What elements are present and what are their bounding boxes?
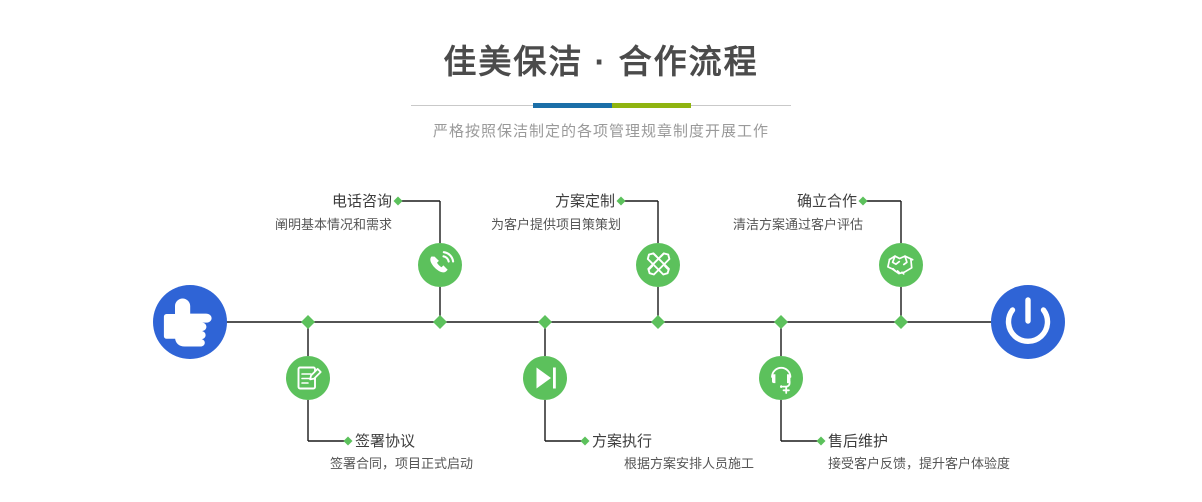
step-3-desc: 为客户提供项目策策划 [491, 218, 621, 231]
timeline-diagram: 电话咨询 阐明基本情况和需求 方案定制 为客户提供项目策策划 确立合作 清洁方案… [0, 0, 1202, 502]
step-node-2[interactable] [286, 356, 330, 400]
spine-marker-4 [651, 315, 665, 329]
step-2-desc: 签署合同，项目正式启动 [330, 457, 473, 470]
step-node-1[interactable] [418, 243, 462, 287]
end-endpoint[interactable] [991, 285, 1065, 359]
label-marker-step-2 [344, 437, 353, 446]
step-6-circle [759, 356, 803, 400]
step-node-3[interactable] [636, 243, 680, 287]
step-3-label: 方案定制 [555, 194, 615, 209]
step-5-desc: 清洁方案通过客户评估 [733, 218, 863, 231]
step-2-label: 签署协议 [355, 434, 415, 449]
spine-marker-2 [433, 315, 447, 329]
step-1-label: 电话咨询 [332, 194, 392, 209]
label-marker-step-1 [394, 197, 403, 206]
process-flow-infographic: 佳美保洁 · 合作流程 严格按照保洁制定的各项管理规章制度开展工作 [0, 0, 1202, 502]
step-3-circle [636, 243, 680, 287]
spine-marker-5 [774, 315, 788, 329]
step-node-6[interactable] [759, 356, 803, 400]
step-5-circle [879, 243, 923, 287]
step-node-4[interactable] [523, 356, 567, 400]
label-markers [344, 197, 868, 446]
step-1-desc: 阐明基本情况和需求 [275, 218, 392, 231]
step-5-label: 确立合作 [797, 194, 857, 209]
label-marker-step-4 [581, 437, 590, 446]
step-1-circle [418, 243, 462, 287]
start-endpoint[interactable] [153, 285, 227, 359]
spine-marker-3 [538, 315, 552, 329]
step-6-label: 售后维护 [828, 434, 888, 449]
label-marker-step-6 [817, 437, 826, 446]
label-marker-step-5 [859, 197, 868, 206]
timeline-svg [0, 0, 1202, 502]
step-node-5[interactable] [879, 243, 923, 287]
step-6-desc: 接受客户反馈，提升客户体验度 [828, 457, 1010, 470]
label-marker-step-3 [617, 197, 626, 206]
step-4-desc: 根据方案安排人员施工 [624, 457, 754, 470]
step-4-label: 方案执行 [592, 434, 652, 449]
spine-marker-1 [301, 315, 315, 329]
spine-marker-6 [894, 315, 908, 329]
